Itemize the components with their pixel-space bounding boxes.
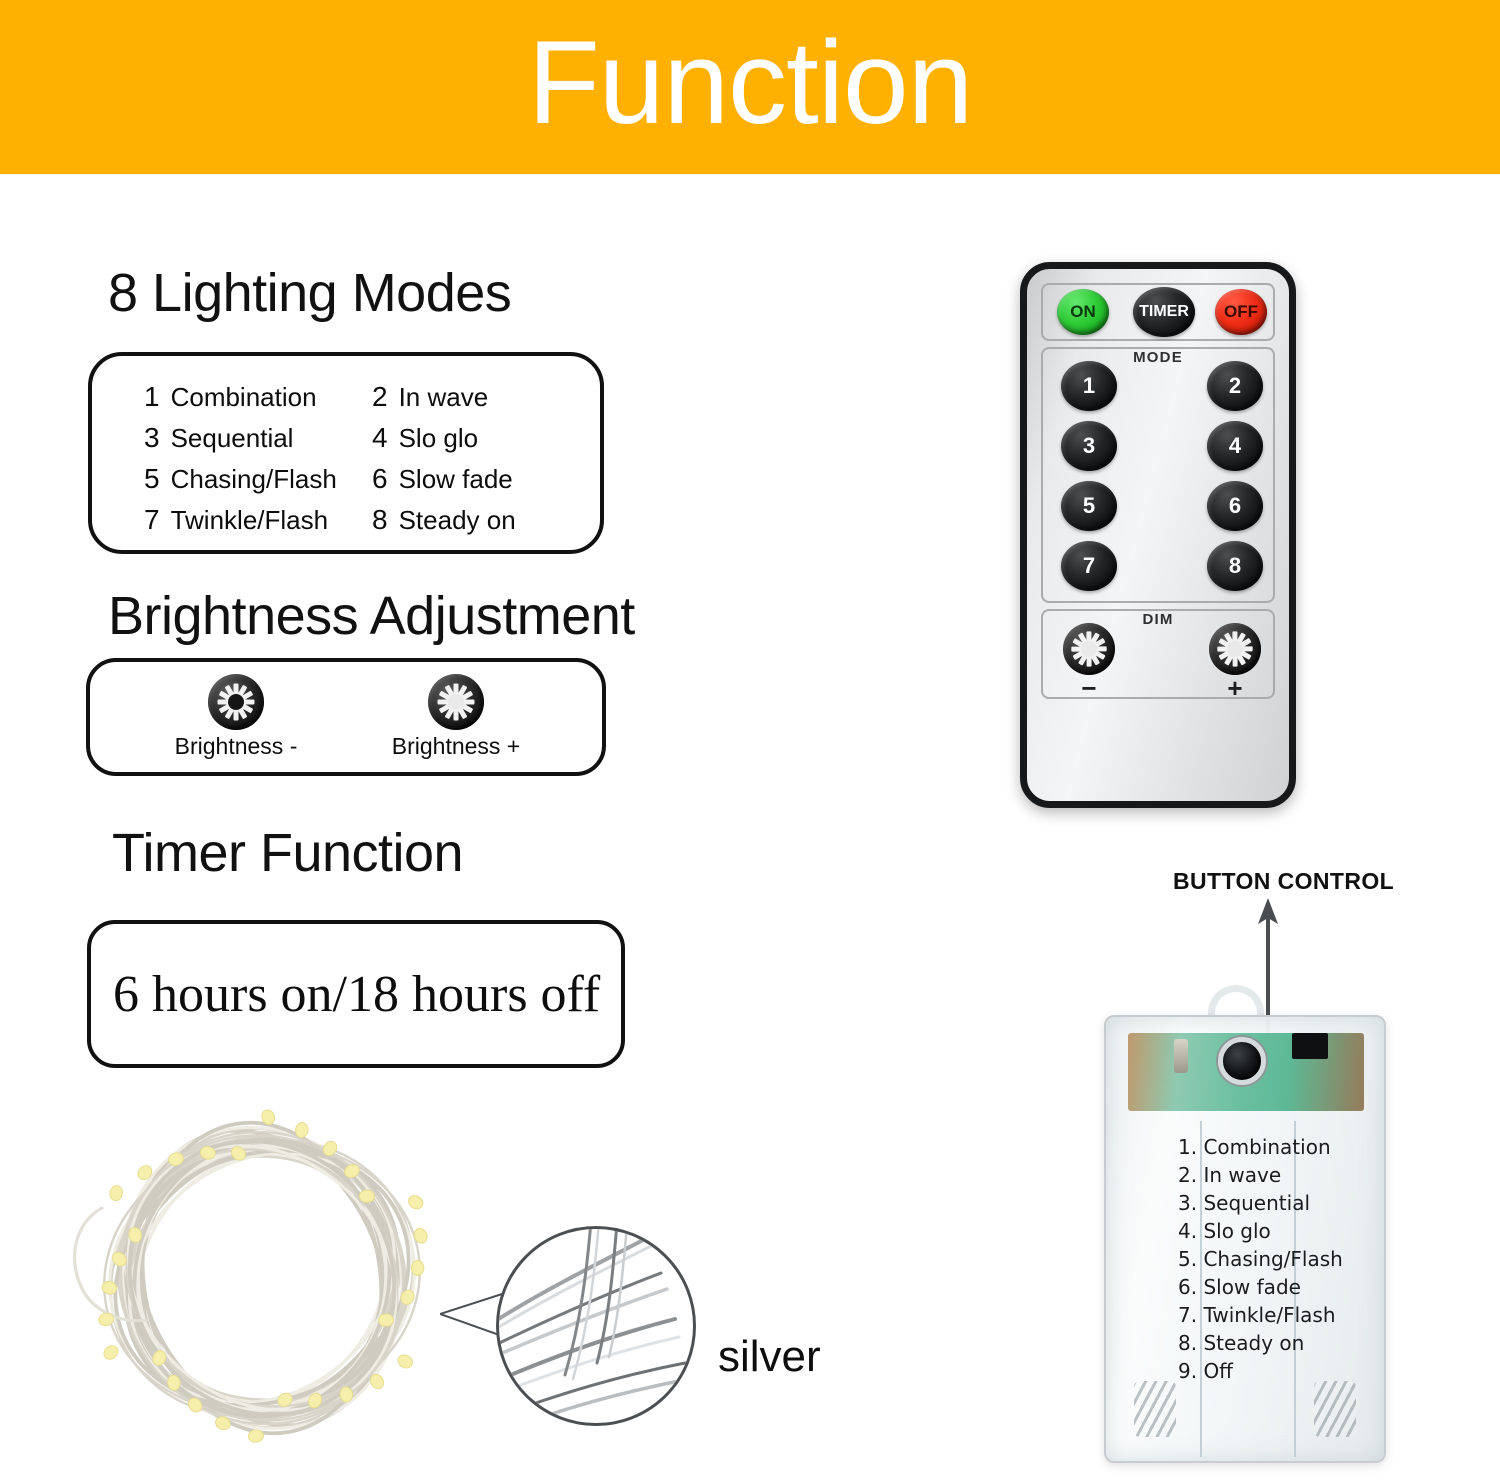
remote-mode-button-1[interactable]: 1 [1061,361,1117,411]
lighting-modes-box: 1 Combination 2 In wave 3 Sequential 4 S… [88,352,604,554]
mode-number: 2 [372,381,388,413]
battery-spring [1134,1381,1176,1437]
battery-spring [1314,1381,1356,1437]
mode-item: 8 Steady on [372,504,584,536]
mode-label: Combination [171,382,317,413]
battery-mode-item: 4. Slo glo [1178,1217,1378,1245]
brightness-increase-icon[interactable] [428,674,484,730]
dim-minus-sign: − [1063,673,1115,704]
remote-mode-button-6[interactable]: 6 [1207,481,1263,531]
mode-number: 5 [144,463,160,495]
chip-component [1292,1033,1328,1059]
remote-mode-button-7[interactable]: 7 [1061,541,1117,591]
battery-mode-item: 8. Steady on [1178,1329,1378,1357]
battery-mode-item: 3. Sequential [1178,1189,1378,1217]
mode-number: 7 [144,504,160,536]
remote-mode-button-2[interactable]: 2 [1207,361,1263,411]
mode-item: 7 Twinkle/Flash [144,504,372,536]
mode-caption: MODE [1027,349,1289,366]
mode-item: 3 Sequential [144,422,372,454]
mode-label: In wave [399,382,489,413]
remote-timer-button[interactable]: TIMER [1133,287,1195,337]
brightness-minus-cell: Brightness - [136,674,336,760]
silver-label: silver [718,1332,821,1382]
remote-control: MODE DIM ON TIMER OFF 1 2 3 4 5 6 7 8 − … [1020,262,1296,808]
timer-function-box: 6 hours on/18 hours off [87,920,625,1068]
remote-dim-decrease-icon[interactable] [1063,623,1115,675]
battery-mode-item: 9. Off [1178,1357,1378,1385]
mode-number: 6 [372,463,388,495]
sun-core [1227,641,1243,657]
mode-item: 2 In wave [372,381,584,413]
brightness-adjustment-box: Brightness - Brightness + [86,658,606,776]
mode-label: Slo glo [399,423,479,454]
battery-mode-item: 2. In wave [1178,1161,1378,1189]
remote-dim-increase-icon[interactable] [1209,623,1261,675]
mode-label: Chasing/Flash [171,464,337,495]
lighting-modes-heading: 8 Lighting Modes [108,262,511,324]
mode-item: 4 Slo glo [372,422,584,454]
mode-label: Steady on [399,505,516,536]
timer-function-heading: Timer Function [112,822,463,884]
battery-mode-item: 1. Combination [1178,1133,1378,1161]
lighting-modes-grid: 1 Combination 2 In wave 3 Sequential 4 S… [144,376,584,540]
remote-mode-button-3[interactable]: 3 [1061,421,1117,471]
battery-mode-item: 5. Chasing/Flash [1178,1245,1378,1273]
brightness-plus-label: Brightness + [392,733,521,760]
dim-plus-sign: + [1209,673,1261,704]
header-banner: Function [0,0,1500,174]
mode-label: Slow fade [399,464,513,495]
wire-magnifier [496,1226,696,1426]
battery-box: 1. Combination 2. In wave 3. Sequential … [1104,1015,1386,1463]
remote-off-button[interactable]: OFF [1215,289,1267,335]
timer-value: 6 hours on/18 hours off [113,965,600,1024]
battery-box-mode-list: 1. Combination 2. In wave 3. Sequential … [1178,1133,1378,1385]
silver-wire-detail [499,1229,696,1426]
mode-number: 8 [372,504,388,536]
capacitor-component [1174,1039,1188,1073]
mode-item: 6 Slow fade [372,463,584,495]
mode-label: Twinkle/Flash [171,505,329,536]
mode-item: 1 Combination [144,381,372,413]
battery-mode-item: 6. Slow fade [1178,1273,1378,1301]
mode-number: 4 [372,422,388,454]
brightness-minus-label: Brightness - [175,733,298,760]
mode-number: 1 [144,381,160,413]
page-title: Function [528,24,973,142]
button-control-label: BUTTON CONTROL [1173,868,1394,895]
remote-on-button[interactable]: ON [1057,289,1109,335]
remote-mode-button-4[interactable]: 4 [1207,421,1263,471]
brightness-decrease-icon[interactable] [208,674,264,730]
mode-label: Sequential [171,423,294,454]
battery-mode-item: 7. Twinkle/Flash [1178,1301,1378,1329]
string-light-coil [62,1088,462,1468]
sun-core [1081,641,1097,657]
brightness-adjustment-heading: Brightness Adjustment [108,585,635,647]
mode-number: 3 [144,422,160,454]
brightness-plus-cell: Brightness + [356,674,556,760]
remote-mode-button-5[interactable]: 5 [1061,481,1117,531]
remote-mode-button-8[interactable]: 8 [1207,541,1263,591]
control-button[interactable] [1218,1037,1266,1085]
mode-item: 5 Chasing/Flash [144,463,372,495]
